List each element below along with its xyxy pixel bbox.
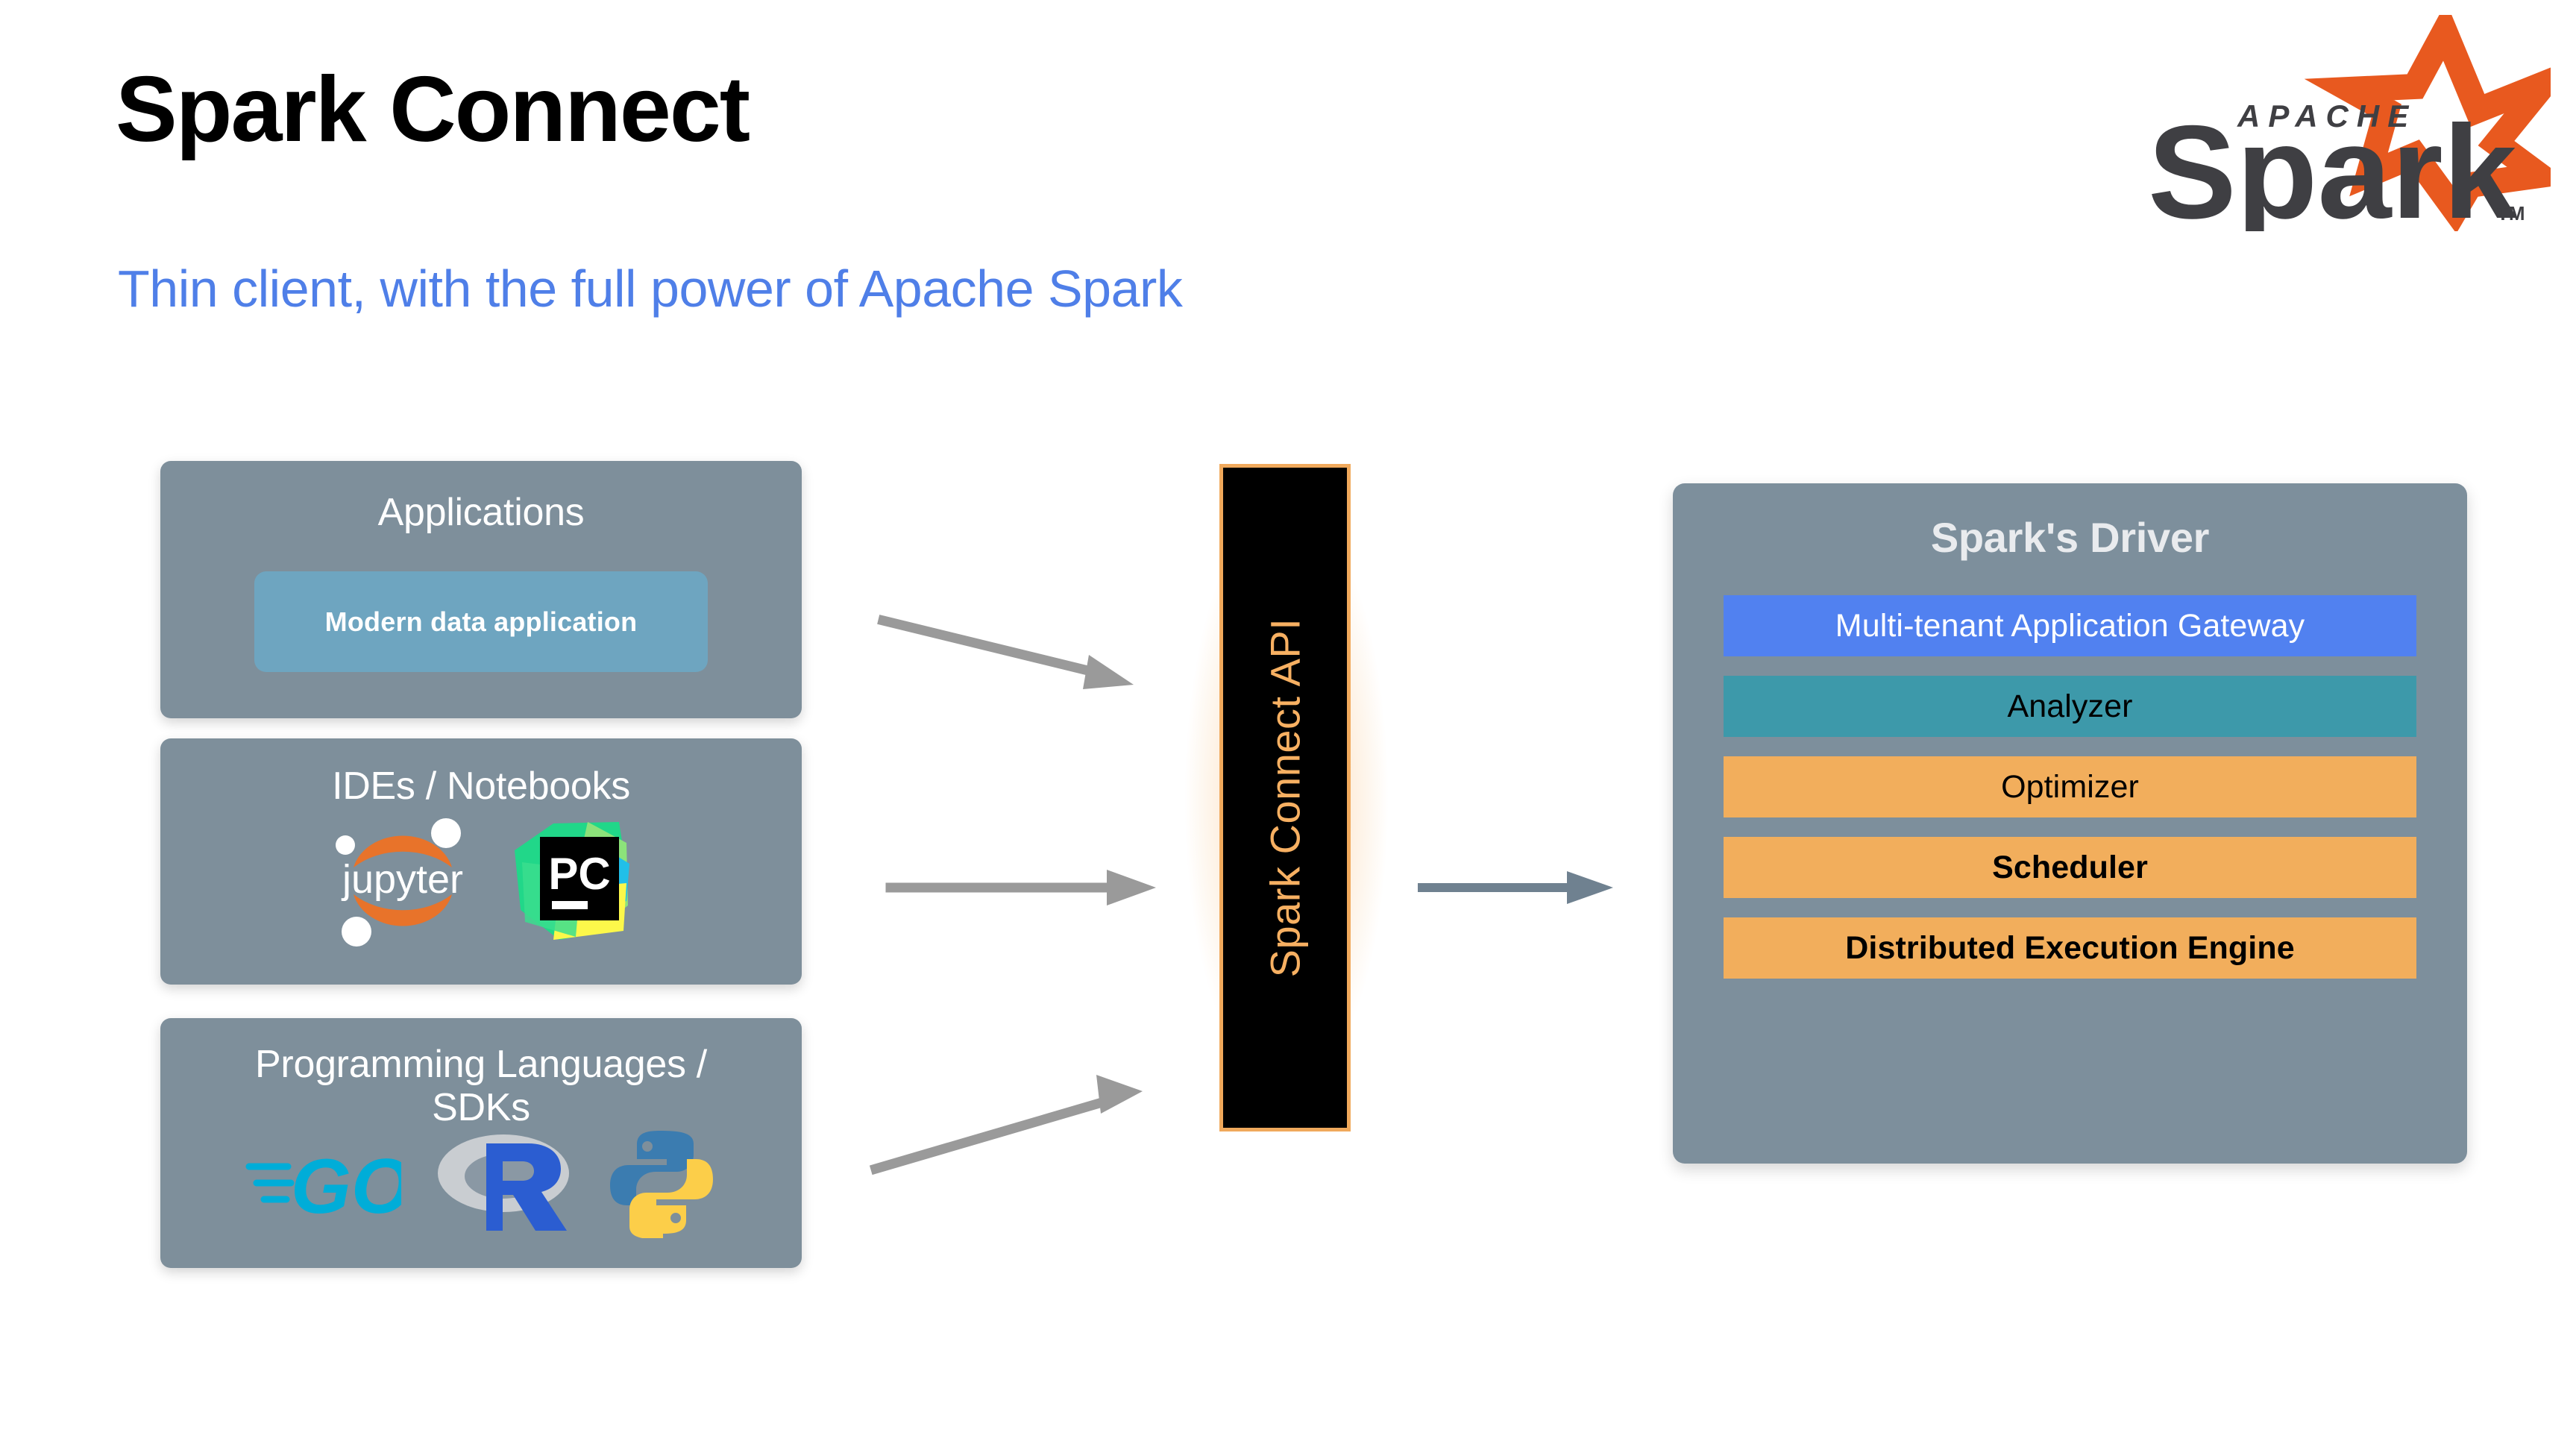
card-title-applications: Applications: [160, 491, 802, 534]
go-logo: GO: [245, 1134, 401, 1234]
driver-bar-execution-engine[interactable]: Distributed Execution Engine: [1724, 917, 2416, 979]
go-letters: GO: [291, 1143, 401, 1230]
spark-driver-panel[interactable]: Spark's Driver Multi-tenant Application …: [1673, 483, 2467, 1164]
pycharm-logo: PC: [507, 817, 634, 948]
driver-panel-title: Spark's Driver: [1673, 513, 2467, 562]
client-card-ides-notebooks[interactable]: IDEs / Notebooks jupyter: [160, 738, 802, 985]
card-title-line2: SDKs: [160, 1086, 802, 1129]
page-title: Spark Connect: [116, 63, 749, 156]
card-title-ides-notebooks: IDEs / Notebooks: [160, 765, 802, 808]
jupyter-wordmark: jupyter: [341, 857, 463, 902]
arrow-api-to-driver: [1421, 858, 1637, 917]
driver-bar-optimizer[interactable]: Optimizer: [1724, 756, 2416, 817]
apache-spark-logo: APACHE Spark TM: [2133, 15, 2551, 231]
modern-data-application-pill[interactable]: Modern data application: [254, 571, 708, 672]
spark-connect-api-label: Spark Connect API: [1261, 618, 1310, 978]
card-title-line1: Programming Languages /: [160, 1043, 802, 1086]
driver-bar-scheduler[interactable]: Scheduler: [1724, 837, 2416, 898]
driver-bar-gateway[interactable]: Multi-tenant Application Gateway: [1724, 595, 2416, 656]
spark-connect-api-bar[interactable]: Spark Connect API: [1219, 464, 1351, 1131]
arrow-applications-to-api: [880, 604, 1193, 701]
pycharm-letters: PC: [548, 849, 610, 899]
card-title-programming-languages: Programming Languages / SDKs: [160, 1043, 802, 1129]
driver-bar-analyzer[interactable]: Analyzer: [1724, 676, 2416, 737]
client-card-applications[interactable]: Applications Modern data application: [160, 461, 802, 718]
ide-logo-row: jupyter PC: [160, 814, 802, 952]
language-logo-row: GO: [160, 1126, 802, 1242]
r-logo: [433, 1130, 574, 1238]
jupyter-logo: jupyter: [328, 814, 477, 952]
slide-canvas: Spark Connect Thin client, with the full…: [0, 0, 2576, 1447]
client-card-programming-languages[interactable]: Programming Languages / SDKs GO: [160, 1018, 802, 1268]
arrow-ides-to-api: [888, 858, 1186, 917]
python-logo: [606, 1126, 717, 1242]
logo-spark-text: Spark: [2148, 98, 2518, 231]
driver-component-stack: Multi-tenant Application Gateway Analyze…: [1724, 595, 2416, 979]
page-subtitle: Thin client, with the full power of Apac…: [118, 263, 1182, 315]
arrow-languages-to-api: [873, 1055, 1201, 1175]
logo-tm-text: TM: [2497, 202, 2525, 225]
